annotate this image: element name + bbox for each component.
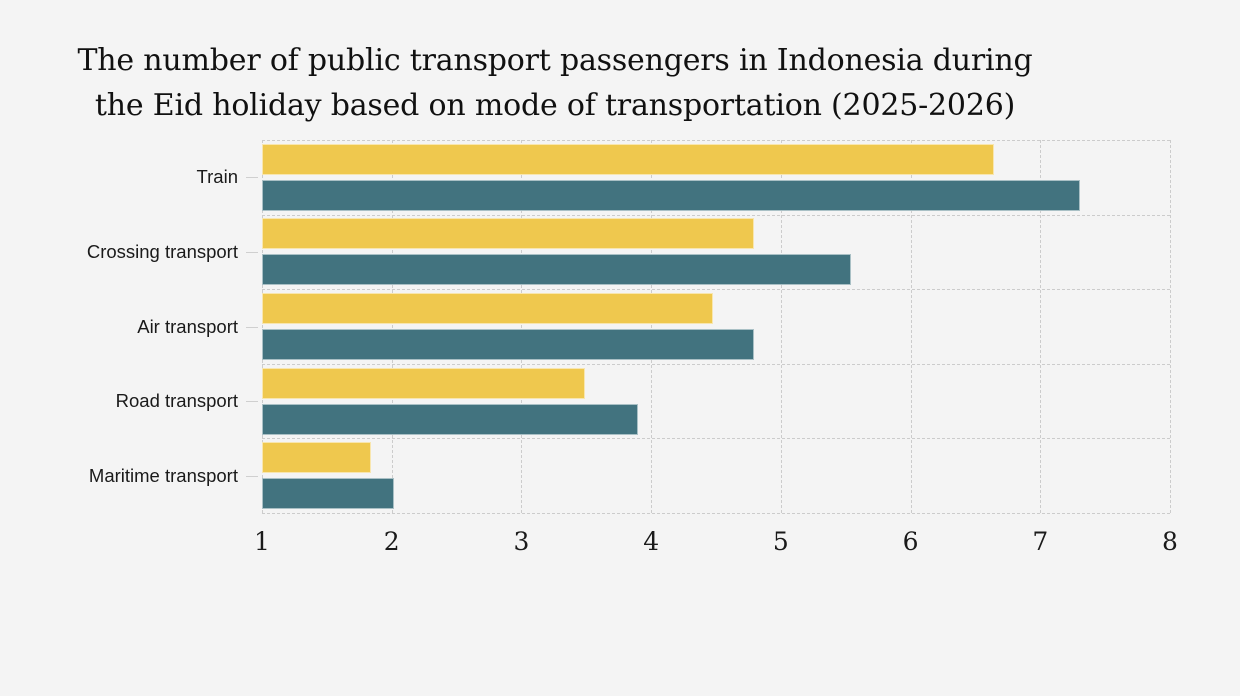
bar-train-2025 — [262, 144, 994, 175]
bar-train-2026 — [262, 180, 1080, 211]
gridline-vertical — [1170, 140, 1171, 513]
bar-maritime-transport-2025 — [262, 442, 371, 473]
gridline-horizontal — [262, 364, 1170, 365]
y-tick-mark — [246, 401, 258, 402]
page-title: The number of public transport passenger… — [0, 38, 1110, 128]
gridline-horizontal — [262, 289, 1170, 290]
y-tick-mark — [246, 476, 258, 477]
y-tick-label-crossing-transport: Crossing transport — [0, 241, 238, 263]
gridline-horizontal — [262, 438, 1170, 439]
bar-crossing-transport-2025 — [262, 218, 754, 249]
y-tick-mark — [246, 177, 258, 178]
y-tick-mark — [246, 327, 258, 328]
bar-air-transport-2026 — [262, 329, 754, 360]
x-axis: 12345678 — [0, 527, 1240, 567]
bar-road-transport-2026 — [262, 404, 638, 435]
x-tick-label-1: 1 — [254, 527, 270, 556]
y-tick-label-road-transport: Road transport — [0, 390, 238, 412]
bar-road-transport-2025 — [262, 368, 585, 399]
gridline-horizontal — [262, 513, 1170, 514]
bar-maritime-transport-2026 — [262, 478, 394, 509]
y-tick-label-maritime-transport: Maritime transport — [0, 465, 238, 487]
x-tick-label-2: 2 — [384, 527, 400, 556]
x-tick-label-3: 3 — [513, 527, 529, 556]
chart-figure: The number of public transport passenger… — [0, 0, 1240, 696]
plot-area — [262, 140, 1170, 513]
x-tick-label-8: 8 — [1162, 527, 1178, 556]
x-tick-label-5: 5 — [773, 527, 789, 556]
y-tick-label-air-transport: Air transport — [0, 316, 238, 338]
y-tick-mark — [246, 252, 258, 253]
x-tick-label-6: 6 — [903, 527, 919, 556]
x-tick-label-4: 4 — [643, 527, 659, 556]
gridline-horizontal — [262, 215, 1170, 216]
x-tick-label-7: 7 — [1032, 527, 1048, 556]
y-axis: TrainCrossing transportAir transportRoad… — [0, 140, 238, 513]
y-tick-label-train: Train — [0, 166, 238, 188]
bar-crossing-transport-2026 — [262, 254, 851, 285]
gridline-horizontal — [262, 140, 1170, 141]
bar-air-transport-2025 — [262, 293, 713, 324]
